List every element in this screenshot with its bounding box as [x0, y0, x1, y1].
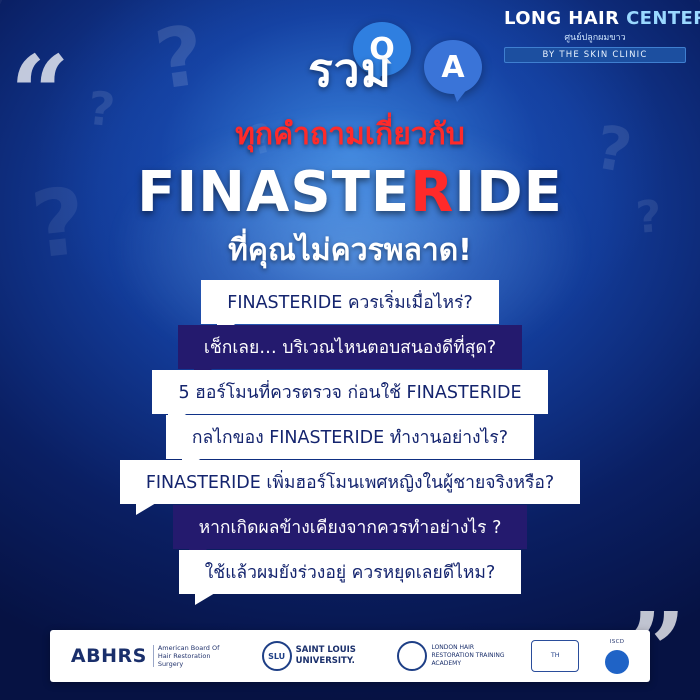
lhrta-seal-icon [397, 641, 427, 671]
partner-abhrs-name: ABHRS [71, 645, 154, 667]
brand-logo-title-left: LONG HAIR [504, 8, 619, 29]
partner-thai-dermatology: TH [531, 640, 579, 672]
question-bubble-6[interactable]: หากเกิดผลข้างเคียงจากควรทำอย่างไร ? [173, 505, 528, 549]
list-item: เช็กเลย… บริเวณไหนตอบสนองดีที่สุด? [0, 325, 700, 369]
list-item: ใช้แล้วผมยังร่วงอยู่ ควรหยุดเลยดีไหม? [0, 550, 700, 594]
partner-abhrs-subtitle: American Board Of Hair Restoration Surge… [158, 644, 236, 668]
question-bubble-2[interactable]: เช็กเลย… บริเวณไหนตอบสนองดีที่สุด? [178, 325, 522, 369]
question-bubble-4[interactable]: กลไกของ FINASTERIDE ทำงานอย่างไร? [166, 415, 534, 459]
question-bubble-3[interactable]: 5 ฮอร์โมนที่ควรตรวจ ก่อนใช้ FINASTERIDE [152, 370, 547, 414]
question-bubble-5[interactable]: FINASTERIDE เพิ่มฮอร์โมนเพศหญิงในผู้ชายจ… [120, 460, 580, 504]
partner-abhrs: ABHRS American Board Of Hair Restoration… [71, 644, 236, 668]
question-list: FINASTERIDE ควรเริ่มเมื่อไหร่? เช็กเลย… … [0, 280, 700, 595]
iscd-seal-icon [605, 650, 629, 674]
saint-louis-seal-icon: SLU [262, 641, 292, 671]
partner-saint-louis: SLU SAINT LOUIS UNIVERSITY. [262, 641, 372, 671]
headline-line-3: FINASTERIDE [0, 160, 700, 225]
brand-logo-title-right: CENTER [626, 8, 700, 29]
poster-canvas: ? ? ? ? ? ? “ ” LONG HAIR CENTER ศูนย์ปล… [0, 0, 700, 700]
partner-saint-louis-name: SAINT LOUIS UNIVERSITY. [296, 645, 372, 666]
headline-line-1: รวม [0, 34, 700, 107]
partner-lhrta-name: LONDON HAIR RESTORATION TRAINING ACADEMY [431, 644, 505, 667]
question-bubble-7[interactable]: ใช้แล้วผมยังร่วงอยู่ ควรหยุดเลยดีไหม? [179, 550, 522, 594]
list-item: กลไกของ FINASTERIDE ทำงานอย่างไร? [0, 415, 700, 459]
brand-logo-title: LONG HAIR CENTER [504, 8, 686, 29]
partner-iscd: ISCD [605, 639, 629, 674]
partner-abhrs-title: American Board Of [158, 644, 220, 652]
headline-line-3-part-3: IDE [454, 160, 563, 225]
partner-lhrta: LONDON HAIR RESTORATION TRAINING ACADEMY [397, 641, 505, 671]
list-item: หากเกิดผลข้างเคียงจากควรทำอย่างไร ? [0, 505, 700, 549]
list-item: 5 ฮอร์โมนที่ควรตรวจ ก่อนใช้ FINASTERIDE [0, 370, 700, 414]
headline-line-4: ที่คุณไม่ควรพลาด! [0, 227, 700, 274]
list-item: FINASTERIDE เพิ่มฮอร์โมนเพศหญิงในผู้ชายจ… [0, 460, 700, 504]
headline-line-3-part-1: FINASTE [137, 160, 410, 225]
partner-logo-bar: ABHRS American Board Of Hair Restoration… [50, 630, 650, 682]
headline-line-2: ทุกคำถามเกี่ยวกับ [0, 111, 700, 158]
list-item: FINASTERIDE ควรเริ่มเมื่อไหร่? [0, 280, 700, 324]
thai-dermatology-seal-icon: TH [531, 640, 579, 672]
partner-iscd-name: ISCD [610, 639, 624, 645]
headline-line-3-part-2: R [410, 160, 454, 225]
headline-block: รวม ทุกคำถามเกี่ยวกับ FINASTERIDE ที่คุณ… [0, 34, 700, 274]
question-bubble-1[interactable]: FINASTERIDE ควรเริ่มเมื่อไหร่? [201, 280, 498, 324]
partner-abhrs-title2: Hair Restoration Surgery [158, 652, 211, 668]
